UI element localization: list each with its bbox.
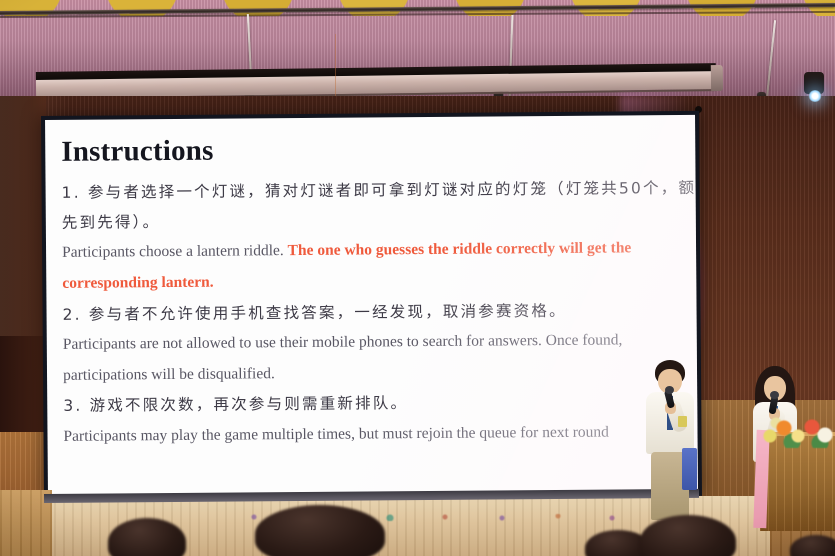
slide-line-cn-3: 3. 游戏不限次数，再次参与则需重新排队。	[63, 386, 683, 421]
auditorium-scene: Instructions 1. 参与者选择一个灯谜，猜对灯谜者即可拿到灯谜对应的…	[0, 0, 835, 556]
audience-head-2	[255, 505, 385, 556]
slide-line-en-3: Participants may play the game multiple …	[63, 417, 683, 453]
floral-arrangement	[762, 414, 835, 448]
slide-line-en-2b: participations will be disqualified.	[63, 356, 683, 392]
slide-line-cn-2: 2. 参与者不允许使用手机查找答案，一经发现，取消参赛资格。	[62, 295, 682, 330]
housing-end-cap	[711, 65, 723, 91]
slide-line-en-1: Participants choose a lantern riddle. Th…	[62, 233, 682, 269]
slide-line-en-2a: Participants are not allowed to use thei…	[63, 325, 683, 361]
slide-line-en-1b: corresponding lantern.	[62, 264, 682, 300]
projection-screen-frame: Instructions 1. 参与者选择一个灯谜，猜对灯谜者即可拿到灯谜对应的…	[41, 111, 702, 501]
slide-line-en-1-plain: Participants choose a lantern riddle.	[62, 243, 284, 262]
presenter-left-mic-head	[665, 386, 674, 394]
spotlight-lens	[808, 90, 822, 102]
projection-screen: Instructions 1. 参与者选择一个灯谜，猜对灯谜者即可拿到灯谜对应的…	[45, 115, 698, 497]
slide-line-en-1-highlight: The one who guesses the riddle correctly…	[288, 240, 632, 260]
presenter-left	[638, 360, 702, 520]
slide-content: Instructions 1. 参与者选择一个灯谜，猜对灯谜者即可拿到灯谜对应的…	[45, 115, 698, 497]
slide-title: Instructions	[61, 131, 681, 169]
stage-spotlight	[800, 72, 830, 106]
ceiling-panel-seam	[335, 34, 336, 104]
slide-line-cn-1a: 1. 参与者选择一个灯谜，猜对灯谜者即可拿到灯谜对应的灯笼（灯笼共50个，额满为…	[61, 173, 681, 208]
presenter-left-badge	[678, 416, 687, 427]
presenter-left-folder	[682, 448, 697, 490]
slide-line-cn-1b: 先到先得）。	[62, 203, 682, 238]
presenter-right-mic-head	[770, 391, 779, 399]
